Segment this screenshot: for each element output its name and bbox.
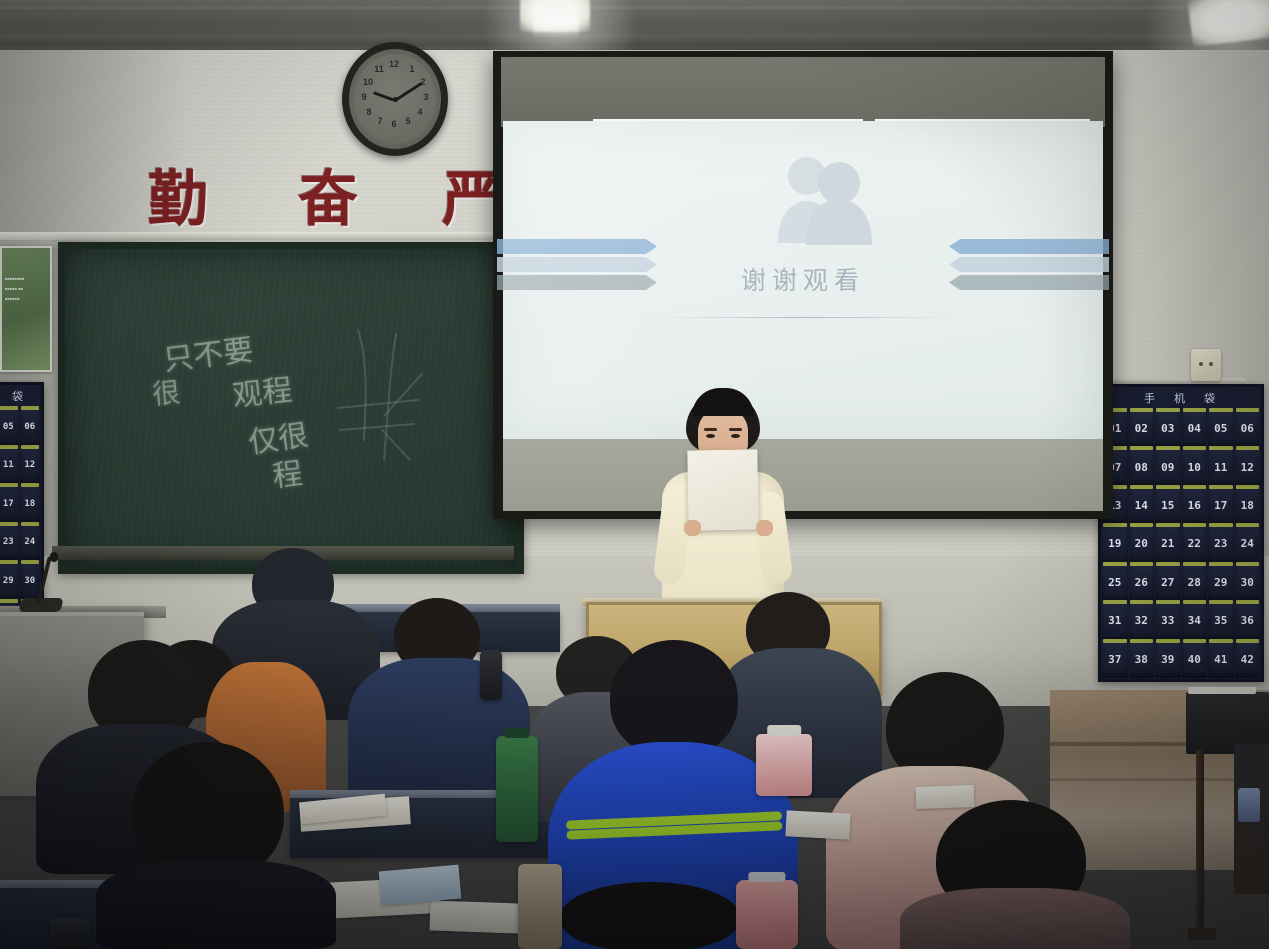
classroom-photo: 勤 奋 严 谨 12 1 2 3 4 5 6 7 8 9 10 11 只不要 很… — [0, 0, 1269, 949]
ceiling — [0, 0, 1269, 56]
clock-numeral: 7 — [374, 116, 386, 126]
pocket-chart-header: 手 机 袋 — [1101, 387, 1261, 409]
pocket-slot[interactable]: 32 — [1129, 602, 1155, 639]
wall-clock: 12 1 2 3 4 5 6 7 8 9 10 11 — [342, 42, 448, 156]
pocket-slot[interactable]: 11 — [0, 447, 19, 485]
pocket-slot[interactable]: 25 — [1102, 564, 1128, 601]
clock-hour-hand — [373, 91, 396, 102]
pocket-slot[interactable]: 09 — [1155, 448, 1181, 485]
pocket-slot[interactable]: 36 — [1235, 602, 1261, 639]
pocket-slot[interactable]: 29 — [1208, 564, 1234, 601]
clock-numeral: 1 — [406, 64, 418, 74]
pocket-slot[interactable]: 19 — [1102, 525, 1128, 562]
pocket-chart-header: 袋 — [0, 385, 41, 407]
wall-poster: ■■■■■■■■ ■■■■■ ■■ ■■■■■■. — [0, 246, 52, 372]
stand-foot — [1188, 928, 1216, 940]
beige-tumbler — [518, 864, 562, 949]
presenter-hand — [756, 520, 773, 536]
gooseneck-microphone — [20, 556, 80, 612]
clock-numeral: 11 — [373, 64, 385, 74]
screen-lower-band — [503, 439, 1103, 511]
pocket-slot[interactable]: 16 — [1182, 487, 1208, 524]
pocket-grid: 0102030405060708091011121314151617181920… — [1101, 409, 1261, 679]
pocket-slot[interactable]: 10 — [1182, 448, 1208, 485]
presenter-eyebrow — [729, 428, 742, 431]
presenter-hand — [684, 520, 701, 536]
clock-numeral: 5 — [402, 116, 414, 126]
socket-hole — [1199, 362, 1203, 366]
screen-glare — [503, 121, 1103, 439]
paper-sheet — [430, 900, 521, 933]
paper-sheet — [379, 865, 462, 906]
clock-minute-hand — [394, 82, 422, 102]
pocket-slot[interactable]: 12 — [1235, 448, 1261, 485]
student-head — [610, 640, 738, 758]
mic-neck — [36, 556, 51, 604]
dark-bottle — [480, 650, 502, 700]
pocket-slot[interactable]: 15 — [1155, 487, 1181, 524]
stand-blue-item — [1238, 788, 1260, 822]
equipment-stand — [1186, 692, 1269, 948]
presenter-eye — [731, 434, 740, 438]
pocket-slot[interactable]: 06 — [1235, 410, 1261, 447]
pocket-slot[interactable]: 41 — [1208, 641, 1234, 678]
dark-bottle-front — [50, 918, 90, 949]
fluorescent-light-icon — [533, 18, 579, 38]
poster-text: ■■■■■■. — [5, 296, 47, 302]
clock-center-pin — [393, 97, 398, 102]
pocket-slot[interactable]: 12 — [20, 447, 41, 485]
pocket-slot[interactable]: 06 — [20, 408, 41, 446]
pocket-slot[interactable]: 42 — [1235, 641, 1261, 678]
pocket-slot[interactable]: 39 — [1155, 641, 1181, 678]
clock-face: 12 1 2 3 4 5 6 7 8 9 10 11 — [354, 54, 436, 144]
pocket-slot[interactable]: 23 — [1208, 525, 1234, 562]
pocket-slot[interactable]: 05 — [0, 408, 19, 446]
header-char: 机 — [1174, 390, 1188, 406]
chalk-writing: 很 — [150, 371, 181, 413]
phone-pocket-chart-right[interactable]: 手 机 袋 0102030405060708091011121314151617… — [1098, 384, 1264, 682]
screen-upper-band — [501, 57, 1105, 127]
pocket-slot[interactable]: 34 — [1182, 602, 1208, 639]
slogan-char-2: 奋 — [298, 151, 362, 238]
pocket-slot[interactable]: 38 — [1129, 641, 1155, 678]
pink-bottle-front — [736, 880, 798, 949]
student-jacket — [96, 860, 336, 949]
presenter-hair-top — [692, 388, 754, 416]
presenter-eyebrow — [704, 428, 717, 431]
clock-numeral: 12 — [388, 59, 400, 69]
pocket-slot[interactable]: 24 — [1235, 525, 1261, 562]
presenter-eye — [706, 434, 715, 438]
pocket-slot[interactable]: 11 — [1208, 448, 1234, 485]
pocket-slot[interactable]: 23 — [0, 524, 19, 562]
pocket-slot[interactable]: 08 — [1129, 448, 1155, 485]
bottle-cap — [748, 872, 785, 882]
green-bottle — [496, 736, 538, 842]
clock-numeral: 6 — [388, 119, 400, 129]
pocket-slot[interactable]: 27 — [1155, 564, 1181, 601]
clock-numeral: 3 — [420, 92, 432, 102]
paper-sheet — [785, 810, 850, 839]
pink-mug — [756, 734, 812, 796]
pocket-slot[interactable]: 03 — [1155, 410, 1181, 447]
pocket-slot[interactable]: 18 — [20, 485, 41, 523]
pocket-slot[interactable]: 30 — [1235, 564, 1261, 601]
presenter-paper — [687, 449, 758, 530]
pocket-slot[interactable]: 29 — [0, 562, 19, 600]
socket-hole — [1209, 362, 1213, 366]
chalk-writing: 观程 — [230, 365, 294, 415]
chalk-diagram-icon — [318, 320, 438, 500]
clock-numeral: 10 — [362, 77, 374, 87]
poster-text: ■■■■■■■■ — [5, 276, 47, 282]
student-head — [560, 882, 740, 949]
pocket-slot[interactable]: 28 — [1182, 564, 1208, 601]
mic-head — [50, 552, 58, 562]
chalk-writing: 程 — [269, 448, 304, 495]
wall-power-socket — [1191, 349, 1221, 381]
wall-trim — [0, 232, 508, 240]
pocket-slot[interactable]: 17 — [1208, 487, 1234, 524]
pocket-slot[interactable]: 26 — [1129, 564, 1155, 601]
ceiling-seam — [0, 6, 1269, 9]
ceiling-beam — [0, 34, 1269, 46]
pocket-slot[interactable]: 20 — [1129, 525, 1155, 562]
pocket-slot[interactable]: 18 — [1235, 487, 1261, 524]
paper-sheet — [916, 785, 975, 809]
projection-screen: 谢谢观看 — [493, 51, 1113, 519]
pocket-slot[interactable]: 04 — [1182, 410, 1208, 447]
pocket-slot[interactable]: 05 — [1208, 410, 1234, 447]
pocket-slot[interactable]: 14 — [1129, 487, 1155, 524]
pocket-slot[interactable]: 33 — [1155, 602, 1181, 639]
mug-lid — [767, 725, 801, 736]
stand-pole — [1196, 750, 1204, 934]
pocket-slot[interactable]: 40 — [1182, 641, 1208, 678]
pocket-slot[interactable]: 21 — [1155, 525, 1181, 562]
slogan-char-1: 勤 — [148, 151, 212, 238]
bottle-cap — [504, 728, 529, 738]
pocket-slot[interactable]: 31 — [1102, 602, 1128, 639]
student-jacket — [900, 888, 1130, 949]
presenting-student — [648, 392, 798, 622]
header-char: 手 — [1144, 390, 1158, 406]
pocket-slot[interactable]: 22 — [1182, 525, 1208, 562]
pocket-slot[interactable]: 17 — [0, 485, 19, 523]
header-char: 袋 — [1204, 390, 1218, 406]
pocket-slot[interactable]: 35 — [1208, 602, 1234, 639]
clock-numeral: 9 — [358, 92, 370, 102]
poster-text: ■■■■■ ■■ — [5, 286, 47, 292]
pocket-slot[interactable]: 37 — [1102, 641, 1128, 678]
clock-numeral: 4 — [414, 107, 426, 117]
pocket-slot[interactable]: 02 — [1129, 410, 1155, 447]
clock-numeral: 8 — [363, 107, 375, 117]
